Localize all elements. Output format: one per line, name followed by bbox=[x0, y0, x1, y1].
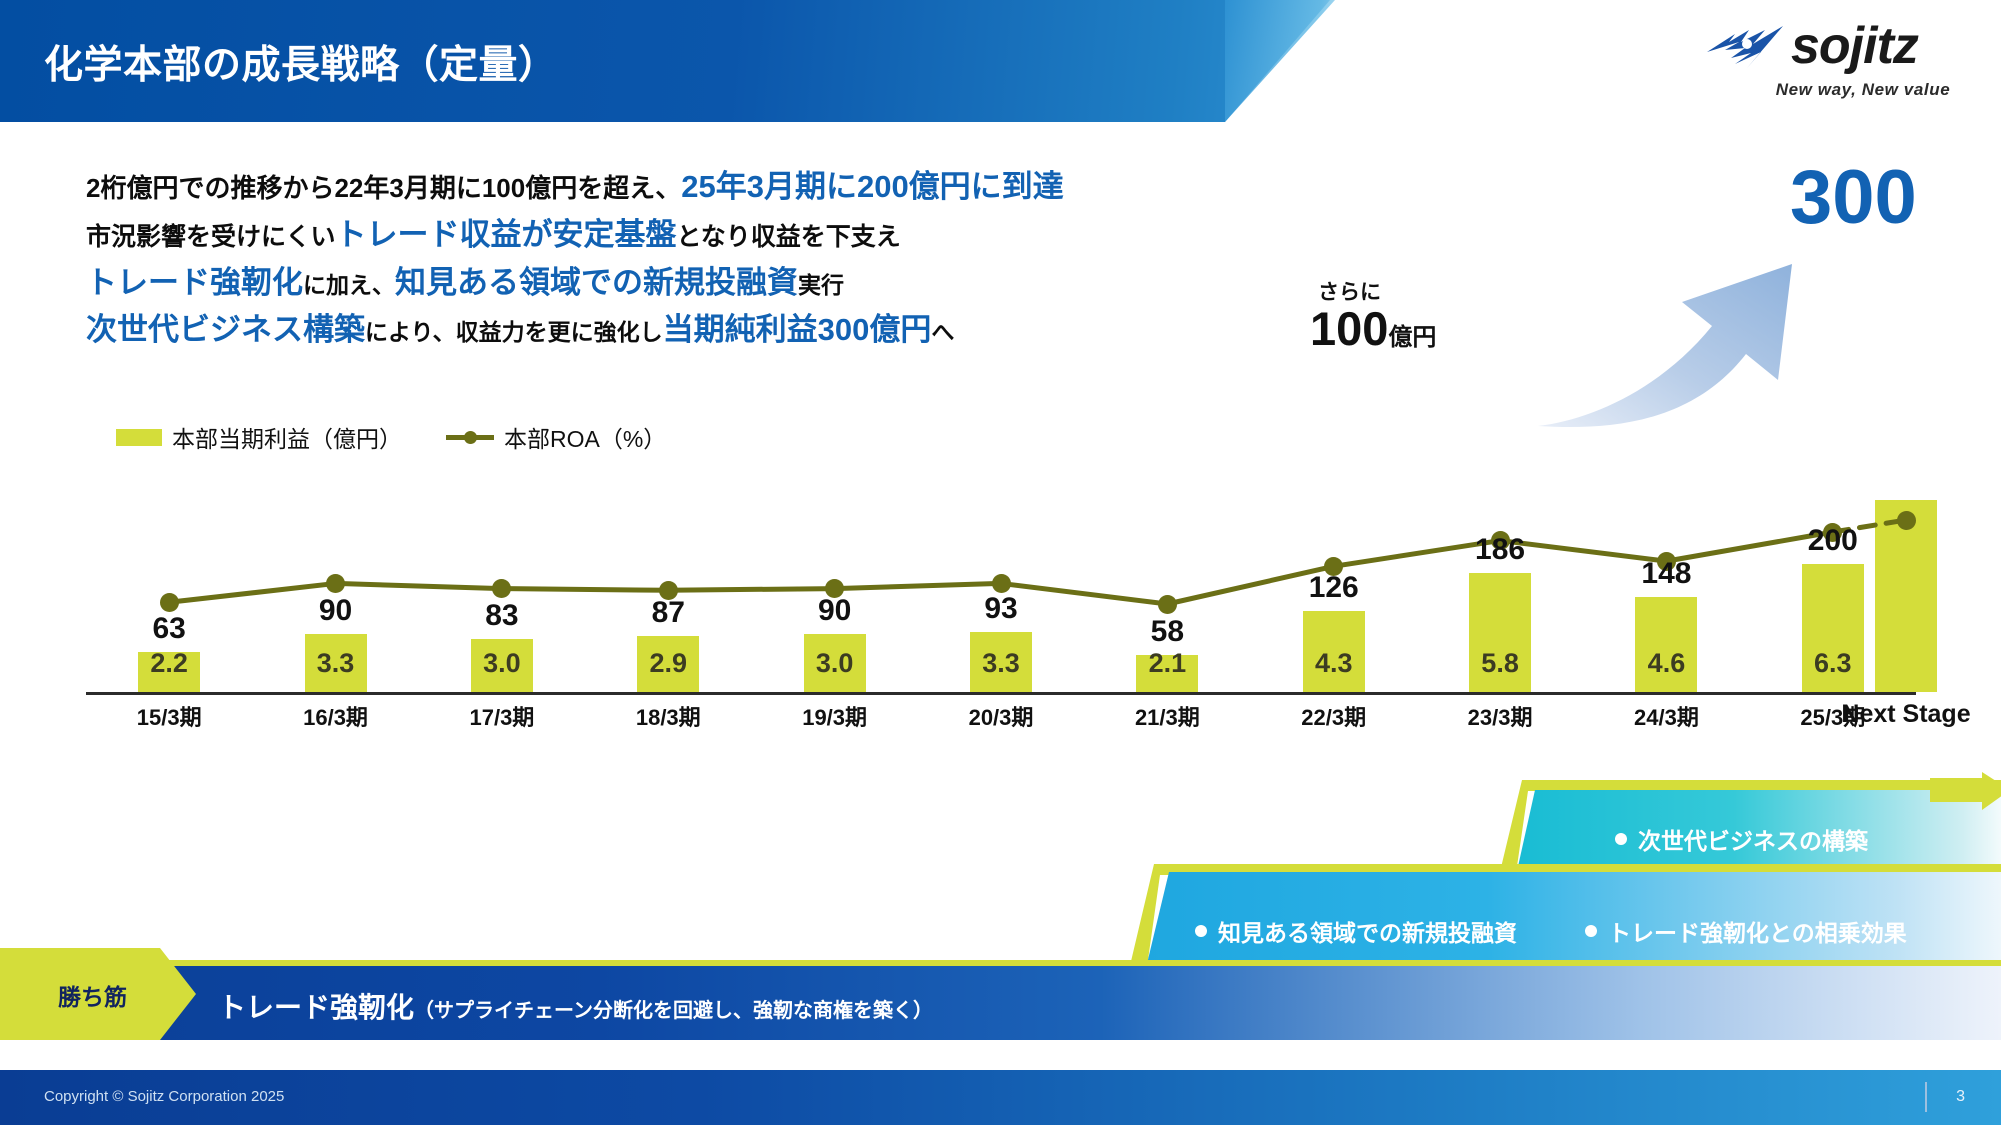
roa-value-label: 6.3 bbox=[1773, 648, 1893, 679]
roa-marker bbox=[160, 593, 179, 612]
kachisuji-label: 勝ち筋 bbox=[58, 978, 127, 1012]
tier3-bullet-0: 次世代ビジネスの構築 bbox=[1615, 822, 1868, 856]
legend-line-swatch-icon bbox=[446, 430, 494, 444]
tier2-bullet-0-label: 知見ある領域での新規投融資 bbox=[1218, 914, 1517, 948]
page-title: 化学本部の成長戦略（定量） bbox=[44, 34, 558, 90]
roa-value-label: 5.8 bbox=[1440, 648, 1560, 679]
bar-value-label: 186 bbox=[1430, 533, 1570, 567]
footer-divider bbox=[1925, 1082, 1927, 1112]
bar-value-label: 200 bbox=[1763, 524, 1903, 558]
slide-footer: Copyright © Sojitz Corporation 2025 3 bbox=[0, 1070, 2001, 1125]
roa-value-label: 3.0 bbox=[775, 648, 895, 679]
roa-value-label: 2.1 bbox=[1107, 648, 1227, 679]
headline-line-4: 次世代ビジネス構築により、収益力を更に強化し当期純利益300億円へ bbox=[86, 311, 1386, 349]
strategy-staircase: 次世代ビジネスの構築 知見ある領域での新規投融資 トレード強靭化との相乗効果 勝… bbox=[0, 780, 2001, 1040]
headline-1-emph: 25年3月期に200億円に到達 bbox=[681, 169, 1063, 204]
bar-value-label: 148 bbox=[1596, 557, 1736, 591]
header-accent-shape bbox=[1225, 0, 1365, 122]
headline-4-emph-1: 次世代ビジネス構築 bbox=[86, 312, 365, 347]
tier2-bullet-1-label: トレード強靭化との相乗効果 bbox=[1608, 914, 1907, 948]
sojitz-tagline: New way, New value bbox=[1751, 80, 1975, 100]
headline-2-emph: トレード収益が安定基盤 bbox=[336, 217, 677, 252]
headline-line-3: トレード強靭化に加え、知見ある領域での新規投融資実行 bbox=[86, 264, 1386, 302]
headline-4-emph-2: 当期純利益300億円 bbox=[663, 312, 932, 347]
target-300-label: 300 bbox=[1790, 160, 1917, 236]
x-label-next-stage: Next Stage bbox=[1806, 700, 2001, 729]
legend-bar-swatch-icon bbox=[116, 429, 162, 446]
profit-roa-chart: 本部当期利益（億円） 本部ROA（%） 632.2903.3833.0872.9… bbox=[86, 400, 1946, 770]
x-axis-label: 15/3期 bbox=[99, 700, 239, 732]
tier1-title: トレード強靭化（サプライチェーン分断化を回避し、強靭な商権を築く） bbox=[218, 986, 933, 1026]
bullet-dot-icon bbox=[1585, 925, 1597, 937]
x-axis-label: 18/3期 bbox=[598, 700, 738, 732]
bar-value-label: 58 bbox=[1097, 615, 1237, 649]
x-axis-label: 21/3期 bbox=[1097, 700, 1237, 732]
roa-value-label: 3.3 bbox=[941, 648, 1061, 679]
callout-amount-unit: 億円 bbox=[1388, 324, 1436, 351]
tier1-title-sub: （サプライチェーン分断化を回避し、強靭な商権を築く） bbox=[414, 1000, 933, 1022]
slide-header: 化学本部の成長戦略（定量） sojitz New way, New value bbox=[0, 0, 2001, 124]
headline-2-pre: 市況影響を受けにくい bbox=[86, 223, 336, 251]
chart-x-axis-labels: 15/3期16/3期17/3期18/3期19/3期20/3期21/3期22/3期… bbox=[86, 700, 1946, 736]
callout-sarani-label: さらに bbox=[1318, 282, 1381, 303]
roa-value-label: 2.2 bbox=[109, 648, 229, 679]
sojitz-wordmark: sojitz bbox=[1791, 20, 1918, 72]
bullet-dot-icon bbox=[1195, 925, 1207, 937]
copyright-text: Copyright © Sojitz Corporation 2025 bbox=[44, 1088, 284, 1105]
callout-amount-number: 100 bbox=[1310, 302, 1388, 355]
headline-block: 2桁億円での推移から22年3月期に100億円を超え、25年3月期に200億円に到… bbox=[86, 168, 1386, 349]
x-axis-label: 19/3期 bbox=[765, 700, 905, 732]
headline-3-emph-1: トレード強靭化 bbox=[86, 265, 303, 300]
strategy-tier-2: 知見ある領域での新規投融資 トレード強靭化との相乗効果 bbox=[1145, 872, 2001, 972]
roa-marker bbox=[992, 574, 1011, 593]
staircase-arrow-icon bbox=[1930, 772, 2001, 816]
x-axis-label: 22/3期 bbox=[1264, 700, 1404, 732]
headline-4-mid: により、収益力を更に強化し bbox=[365, 319, 663, 345]
bar-value-label: 83 bbox=[432, 599, 572, 633]
headline-3-emph-2: 知見ある領域での新規投融資 bbox=[395, 265, 798, 300]
legend-bar-label: 本部当期利益（億円） bbox=[172, 420, 402, 454]
roa-value-label: 2.9 bbox=[608, 648, 728, 679]
bar-value-label: 63 bbox=[99, 612, 239, 646]
legend-item-line: 本部ROA（%） bbox=[446, 420, 666, 454]
legend-item-bar: 本部当期利益（億円） bbox=[116, 420, 402, 454]
sojitz-logo-icon bbox=[1705, 22, 1789, 78]
chart-legend: 本部当期利益（億円） 本部ROA（%） bbox=[116, 422, 666, 452]
headline-1-normal: 2桁億円での推移から22年3月期に100億円を超え、 bbox=[86, 173, 681, 203]
bar-value-label: 93 bbox=[931, 592, 1071, 626]
x-axis-label: 23/3期 bbox=[1430, 700, 1570, 732]
bar-value-label: 126 bbox=[1264, 571, 1404, 605]
tier2-bullet-1: トレード強靭化との相乗効果 bbox=[1585, 914, 1907, 948]
x-axis-label: 17/3期 bbox=[432, 700, 572, 732]
headline-line-1: 2桁億円での推移から22年3月期に100億円を超え、25年3月期に200億円に到… bbox=[86, 168, 1386, 206]
roa-value-label: 3.3 bbox=[276, 648, 396, 679]
page-number: 3 bbox=[1956, 1088, 1965, 1106]
bar-value-label: 90 bbox=[266, 594, 406, 628]
roa-value-label: 4.3 bbox=[1274, 648, 1394, 679]
tier3-bullet-0-label: 次世代ビジネスの構築 bbox=[1638, 822, 1868, 856]
sojitz-logo: sojitz New way, New value bbox=[1705, 16, 1975, 108]
slide-root: 化学本部の成長戦略（定量） sojitz New way, New value … bbox=[0, 0, 2001, 1125]
x-axis-label: 20/3期 bbox=[931, 700, 1071, 732]
legend-line-label: 本部ROA（%） bbox=[504, 420, 666, 454]
chart-plot-area: 632.2903.3833.0872.9903.0933.3582.11264.… bbox=[86, 480, 1946, 695]
tier1-title-main: トレード強靭化 bbox=[218, 992, 414, 1023]
tier2-bullet-0: 知見ある領域での新規投融資 bbox=[1195, 914, 1517, 948]
headline-3-mid: に加え、 bbox=[303, 272, 395, 298]
callout-amount: 100億円 bbox=[1310, 305, 1436, 352]
x-axis-label: 16/3期 bbox=[266, 700, 406, 732]
roa-value-label: 4.6 bbox=[1606, 648, 1726, 679]
bullet-dot-icon bbox=[1615, 833, 1627, 845]
x-axis-label: 24/3期 bbox=[1596, 700, 1736, 732]
bar-value-label: 90 bbox=[765, 594, 905, 628]
headline-4-post: へ bbox=[931, 319, 954, 345]
roa-marker bbox=[492, 579, 511, 598]
bar-value-label: 87 bbox=[598, 596, 738, 630]
headline-3-post: 実行 bbox=[798, 272, 844, 298]
chart-x-axis bbox=[86, 692, 1916, 695]
roa-marker bbox=[1158, 595, 1177, 614]
roa-value-label: 3.0 bbox=[442, 648, 562, 679]
headline-line-2: 市況影響を受けにくいトレード収益が安定基盤となり収益を下支え bbox=[86, 216, 1386, 254]
headline-2-post: となり収益を下支え bbox=[677, 223, 901, 251]
roa-marker bbox=[326, 574, 345, 593]
